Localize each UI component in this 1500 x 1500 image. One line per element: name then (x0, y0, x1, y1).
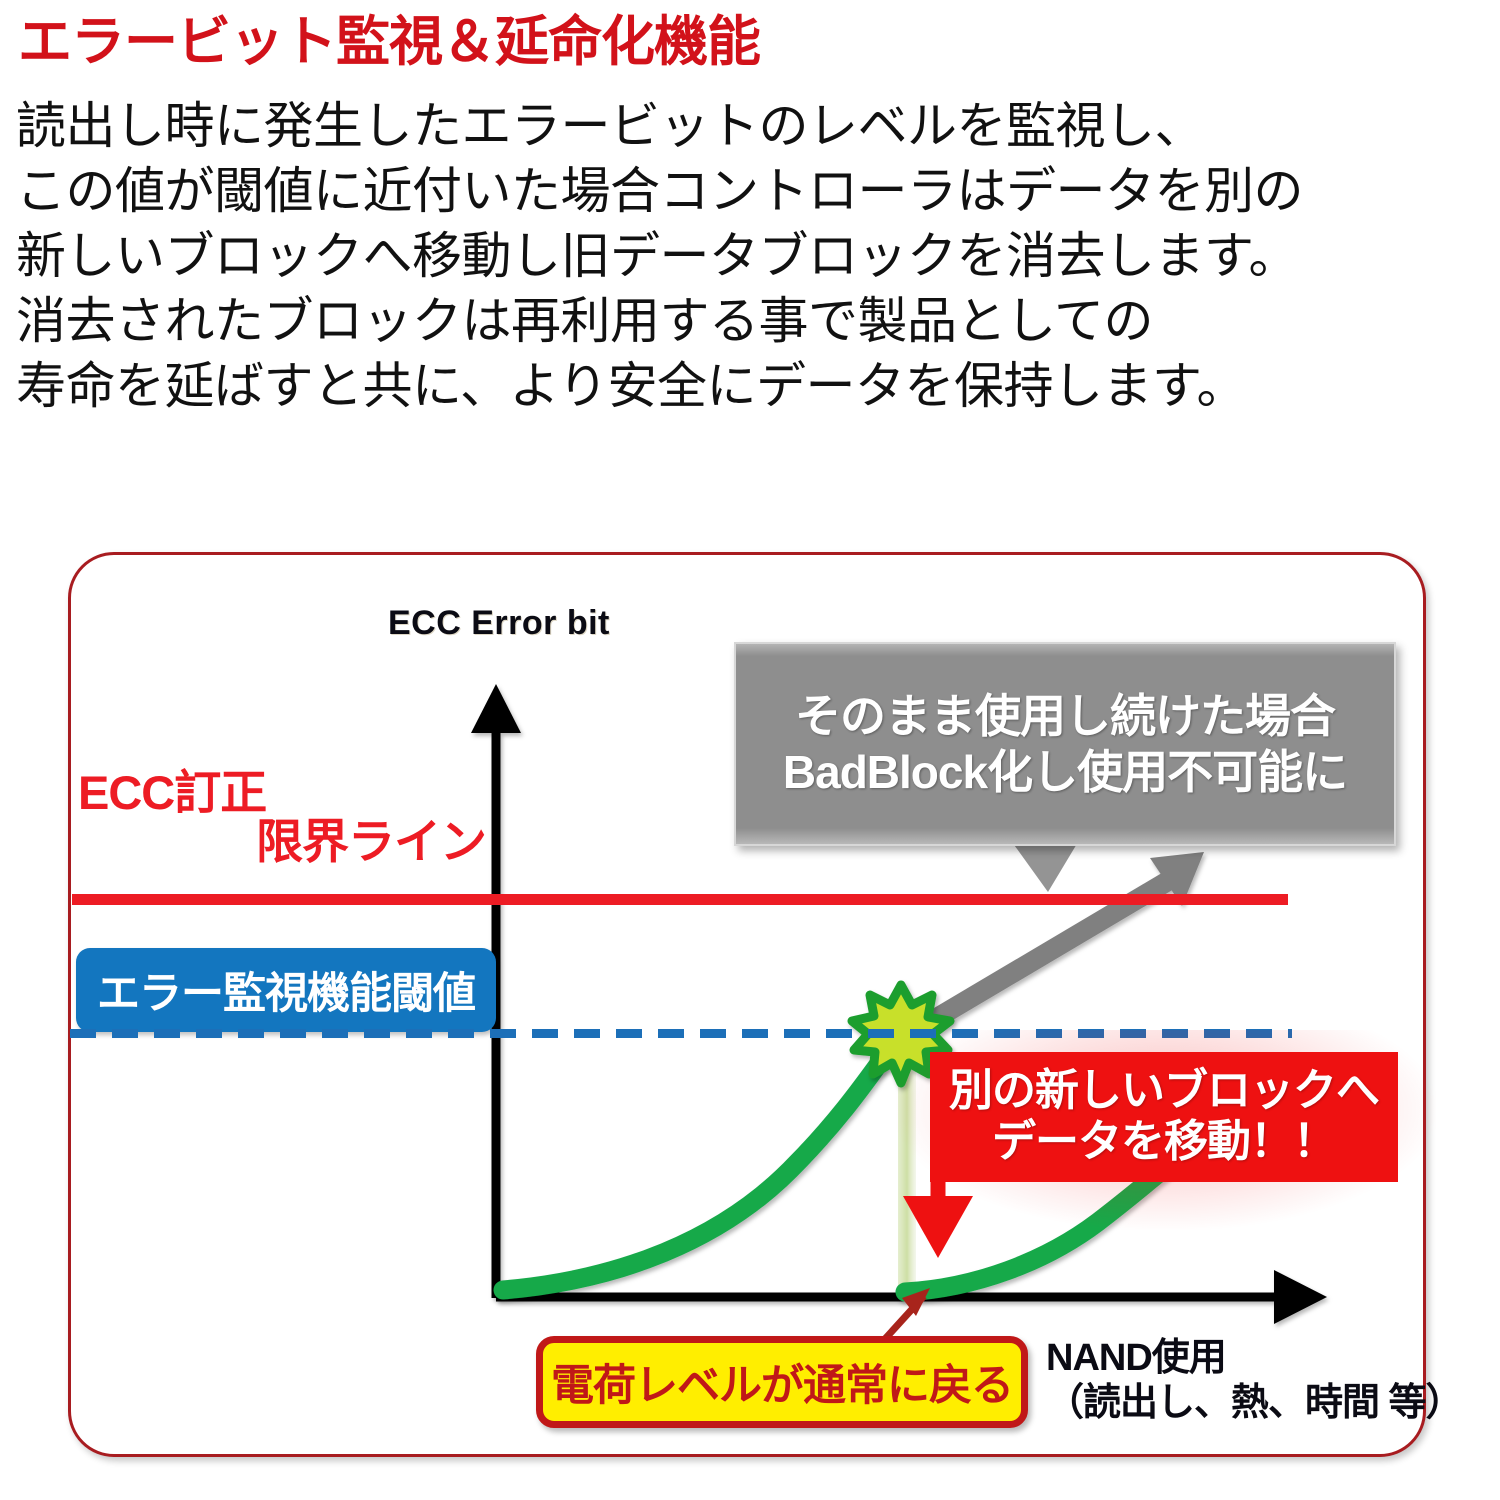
charge-level-callout-label: 電荷レベルが通常に戻る (551, 1351, 1013, 1413)
move-data-callout-line-1: 別の新しいブロックへ (949, 1066, 1379, 1117)
error-monitor-threshold-badge: エラー監視機能閾値 (76, 948, 496, 1032)
page-title: エラービット監視＆延命化機能 (18, 14, 1478, 71)
badblock-callout: そのまま使用し続けた場合 BadBlock化し使用不可能に (734, 642, 1396, 846)
ecc-limit-label-line-2: 限界ライン (78, 817, 498, 866)
x-axis-label-line-1: NAND使用 (1046, 1336, 1463, 1381)
ecc-limit-label: ECC訂正 限界ライン (78, 768, 498, 867)
description-line-5: 寿命を延ばすと共に、より安全にデータを保持します。 (16, 354, 1486, 419)
y-axis-label: ECC Error bit (388, 604, 610, 643)
move-data-callout: 別の新しいブロックへ データを移動！！ (930, 1052, 1398, 1182)
move-data-callout-line-2: データを移動！！ (992, 1117, 1336, 1168)
x-axis-label-line-2: （読出し、熱、時間 等） (1046, 1381, 1463, 1426)
ecc-limit-line (72, 894, 1288, 905)
description-paragraph: 読出し時に発生したエラービットのレベルを監視し、 この値が閾値に近付いた場合コン… (16, 94, 1486, 419)
charge-level-callout: 電荷レベルが通常に戻る (536, 1336, 1028, 1428)
description-line-1: 読出し時に発生したエラービットのレベルを監視し、 (16, 94, 1486, 159)
ecc-limit-label-line-1: ECC訂正 (78, 768, 498, 817)
description-line-3: 新しいブロックへ移動し旧データブロックを消去します。 (16, 224, 1486, 289)
badblock-callout-line-1: そのまま使用し続けた場合 (795, 688, 1335, 744)
description-line-2: この値が閾値に近付いた場合コントローラはデータを別の (16, 159, 1486, 224)
x-axis-label: NAND使用 （読出し、熱、時間 等） (1046, 1336, 1463, 1426)
description-line-4: 消去されたブロックは再利用する事で製品としての (16, 289, 1486, 354)
error-monitor-threshold-label: エラー監視機能閾値 (97, 959, 475, 1021)
page-root: エラービット監視＆延命化機能 読出し時に発生したエラービットのレベルを監視し、 … (0, 0, 1500, 1500)
badblock-callout-line-2: BadBlock化し使用不可能に (783, 744, 1347, 800)
